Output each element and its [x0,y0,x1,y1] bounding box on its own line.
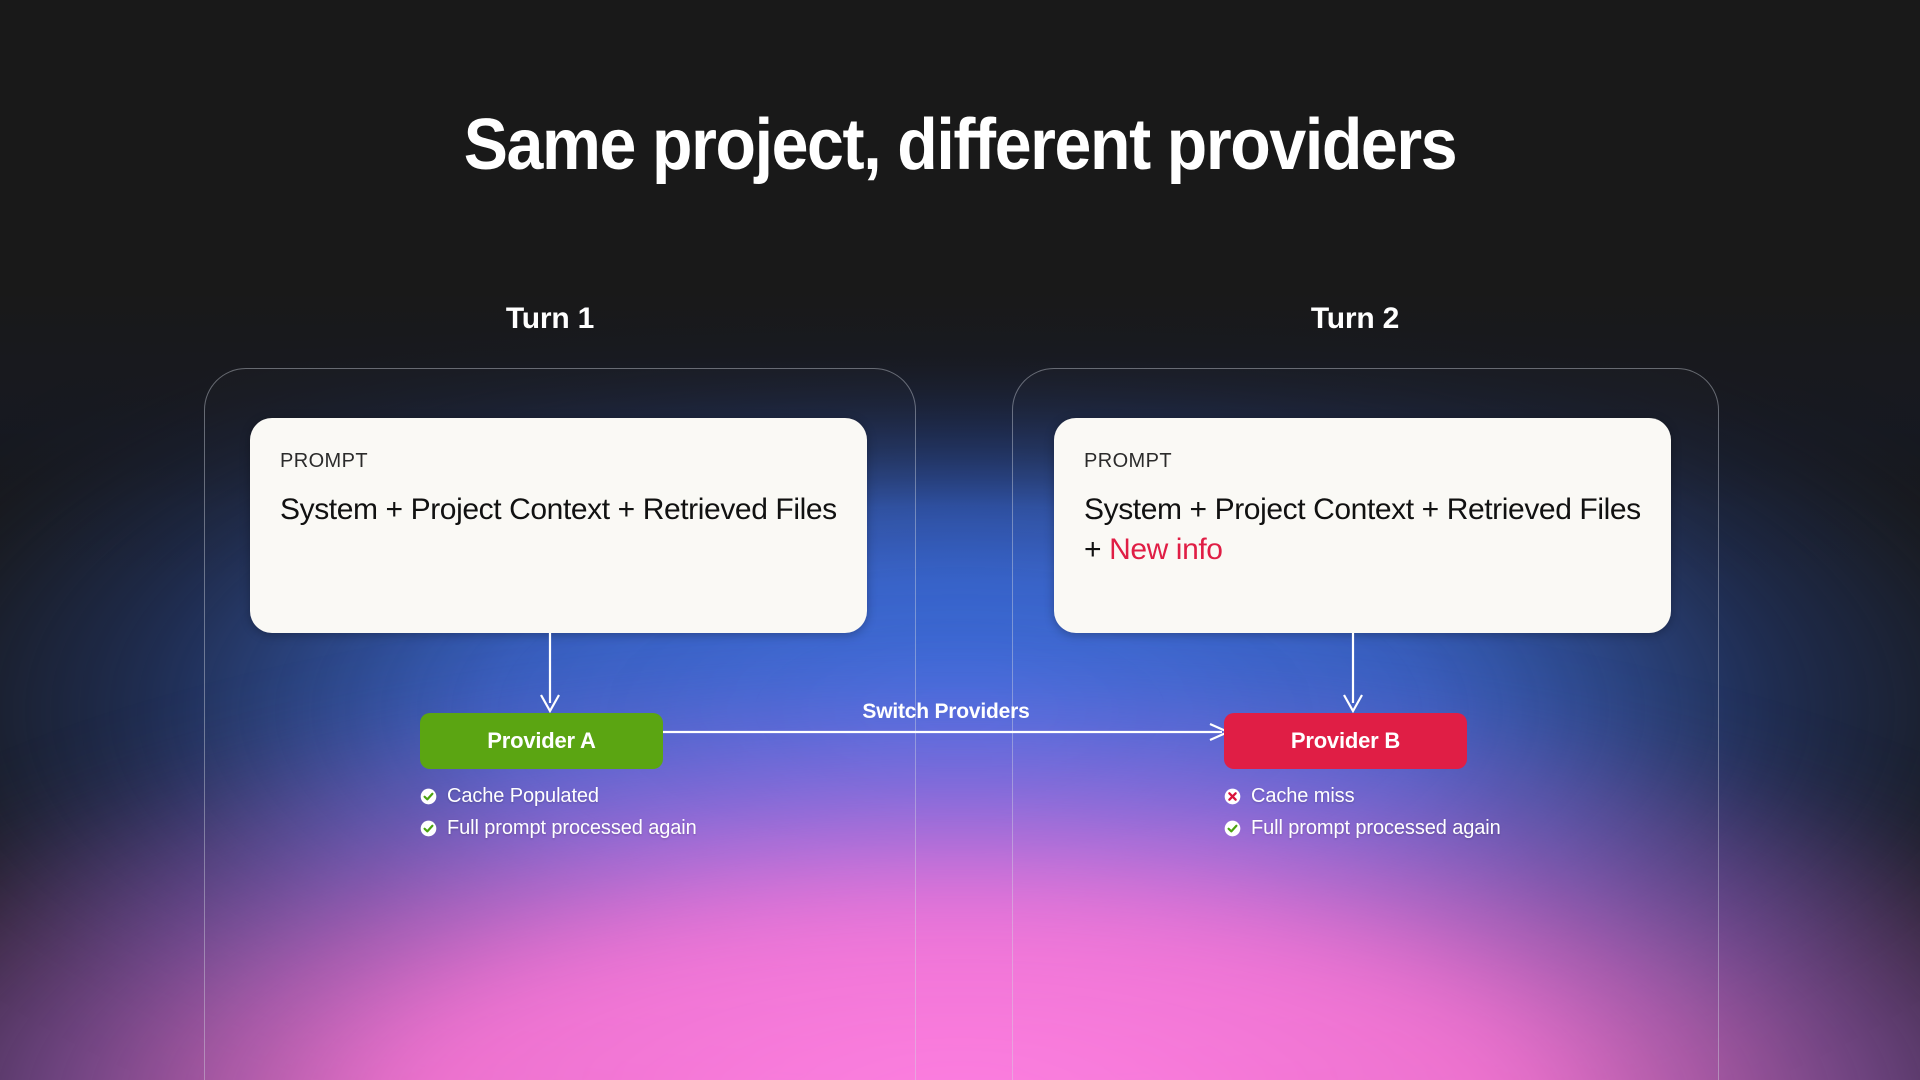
status-text: Full prompt processed again [447,817,697,840]
page-title: Same project, different providers [77,104,1843,186]
prompt-kicker-label: PROMPT [1084,450,1641,473]
turn-2-status-list: Cache miss Full prompt processed again [1224,785,1501,849]
arrow-down-icon [537,633,563,715]
check-circle-icon [1224,820,1241,837]
status-text: Full prompt processed again [1251,817,1501,840]
turn-1-prompt-card: PROMPT System + Project Context + Retrie… [250,418,867,633]
list-item: Full prompt processed again [1224,817,1501,840]
provider-b-button[interactable]: Provider B [1224,713,1467,769]
turn-1-label: Turn 1 [430,302,670,336]
prompt-body-accent: New info [1109,533,1223,566]
prompt-body-text: System + Project Context + Retrieved Fil… [1084,490,1641,570]
turn-2-prompt-card: PROMPT System + Project Context + Retrie… [1054,418,1671,633]
check-circle-icon [420,788,437,805]
list-item: Cache miss [1224,785,1501,808]
list-item: Cache Populated [420,785,697,808]
check-circle-icon [420,820,437,837]
status-text: Cache Populated [447,785,599,808]
list-item: Full prompt processed again [420,817,697,840]
arrow-right-icon [660,722,1232,742]
prompt-kicker-label: PROMPT [280,450,837,473]
prompt-body-text: System + Project Context + Retrieved Fil… [280,490,837,530]
error-circle-icon [1224,788,1241,805]
turn-2-label: Turn 2 [1235,302,1475,336]
arrow-down-icon [1340,633,1366,715]
prompt-body-main: System + Project Context + Retrieved Fil… [280,493,837,526]
switch-providers-label: Switch Providers [660,700,1232,724]
status-text: Cache miss [1251,785,1354,808]
provider-a-button[interactable]: Provider A [420,713,663,769]
turn-1-status-list: Cache Populated Full prompt processed ag… [420,785,697,849]
